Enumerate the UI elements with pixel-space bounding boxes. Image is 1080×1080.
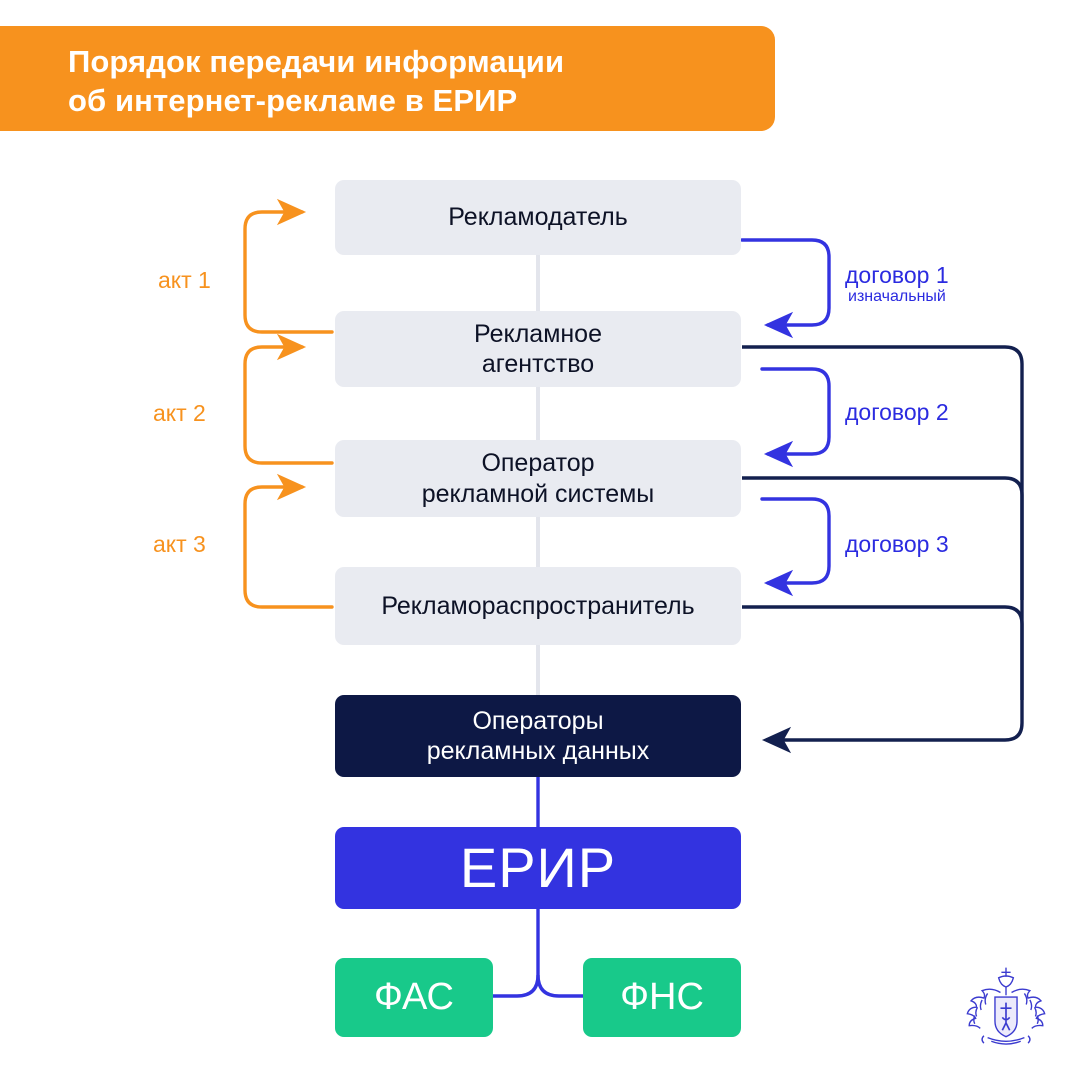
label-act-1: акт 1 xyxy=(158,267,211,294)
node-ad-distributor[interactable]: Рекламораспространитель xyxy=(335,567,741,645)
node-fns-label: ФНС xyxy=(620,974,704,1020)
node-fas-label: ФАС xyxy=(374,974,454,1020)
act-arrows xyxy=(245,212,332,607)
title-line-1: Порядок передачи информации xyxy=(68,42,745,81)
label-act-3: акт 3 xyxy=(153,531,206,558)
node-advertiser[interactable]: Рекламодатель xyxy=(335,180,741,255)
node-ord[interactable]: Операторы рекламных данных xyxy=(335,695,741,777)
double-headed-eagle-emblem xyxy=(960,962,1052,1058)
node-ad-system-operator-label: Оператор рекламной системы xyxy=(422,448,655,509)
node-fas[interactable]: ФАС xyxy=(335,958,493,1037)
node-agency-label: Рекламное агентство xyxy=(474,319,602,380)
label-act-2: акт 2 xyxy=(153,400,206,427)
node-ad-distributor-label: Рекламораспространитель xyxy=(381,591,694,622)
label-contract-1-sub: изначальный xyxy=(848,288,946,306)
node-erir[interactable]: ЕРИР xyxy=(335,827,741,909)
node-agency[interactable]: Рекламное агентство xyxy=(335,311,741,387)
node-advertiser-label: Рекламодатель xyxy=(448,202,628,233)
label-contract-2: договор 2 xyxy=(845,399,949,426)
diagram-canvas: Порядок передачи информации об интернет-… xyxy=(0,0,1080,1080)
title-banner: Порядок передачи информации об интернет-… xyxy=(0,26,775,131)
label-contract-3: договор 3 xyxy=(845,531,949,558)
node-ord-label: Операторы рекламных данных xyxy=(427,706,650,767)
node-ad-system-operator[interactable]: Оператор рекламной системы xyxy=(335,440,741,517)
node-erir-label: ЕРИР xyxy=(460,834,616,902)
contract-arrows xyxy=(742,240,829,583)
label-contract-1: договор 1 xyxy=(845,262,949,289)
node-fns[interactable]: ФНС xyxy=(583,958,741,1037)
title-line-2: об интернет-рекламе в ЕРИР xyxy=(68,81,745,120)
